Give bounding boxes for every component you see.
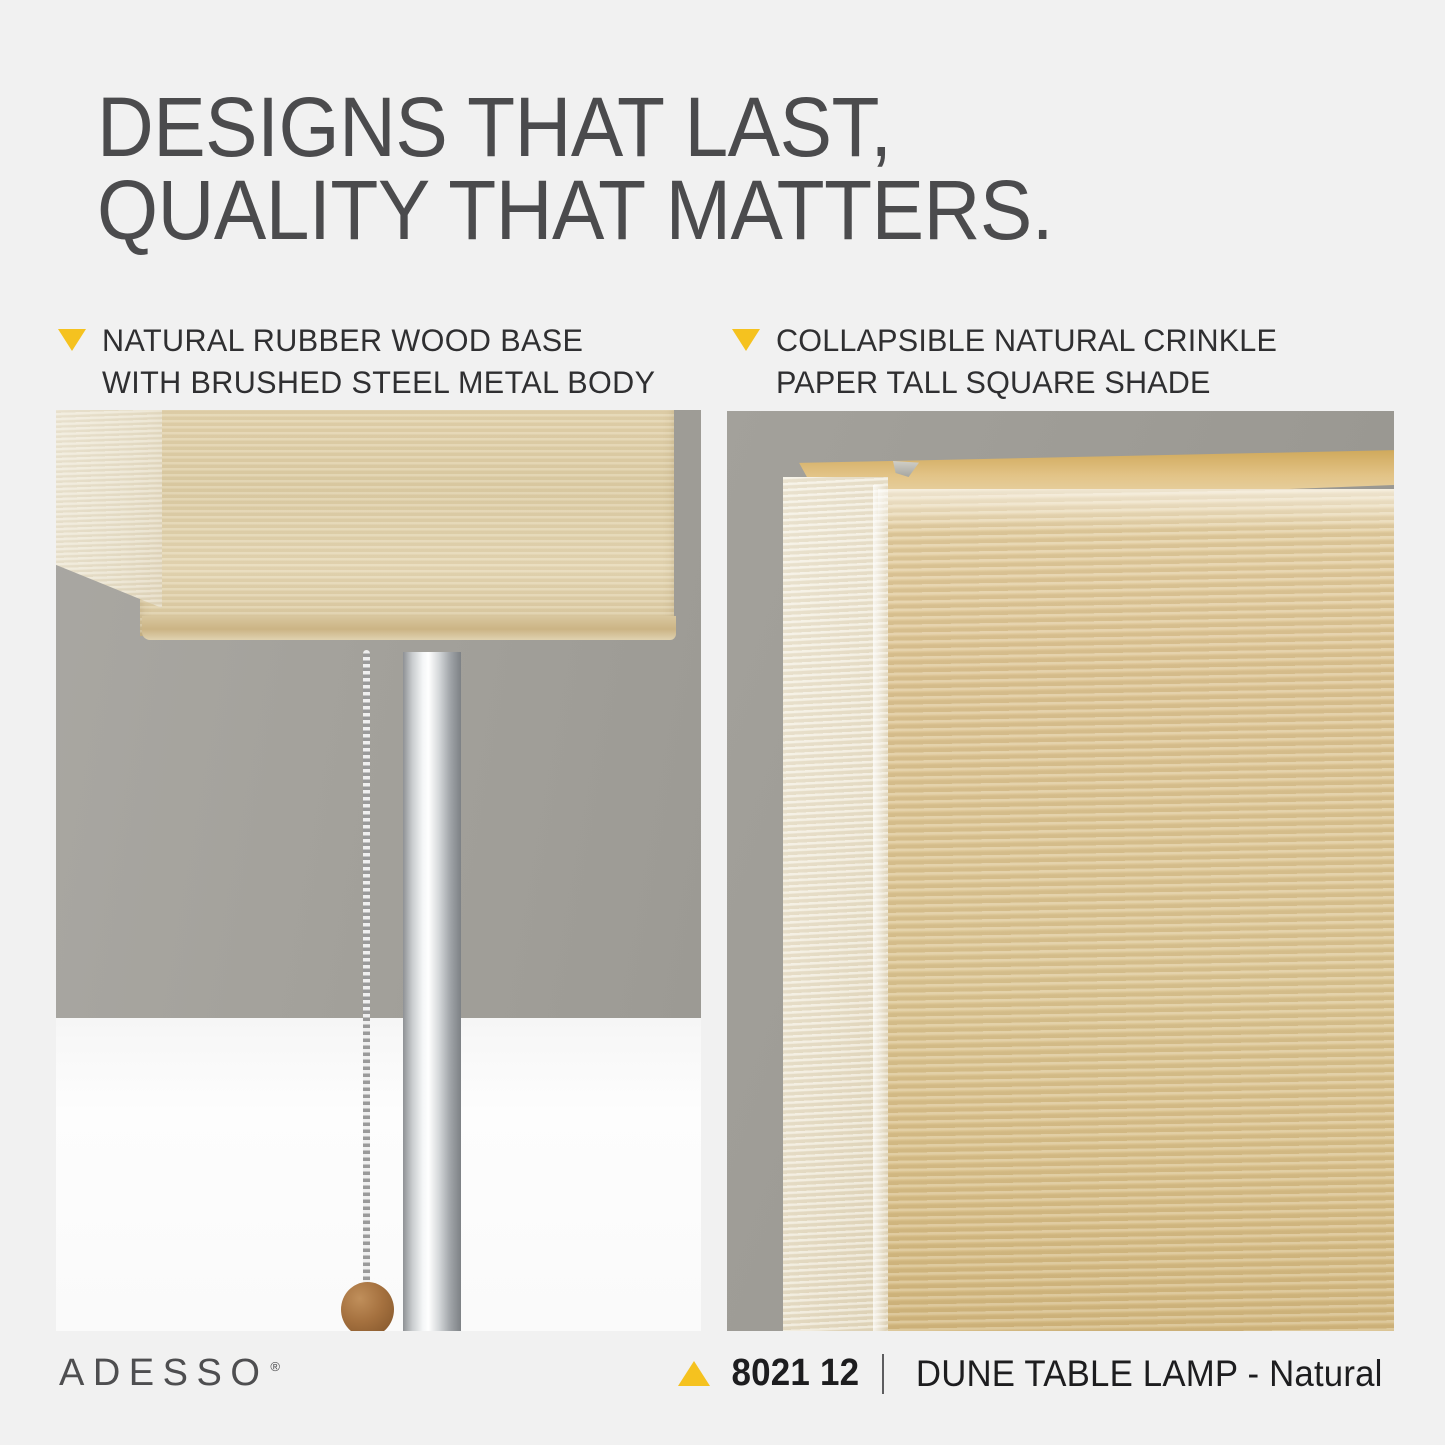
triangle-down-icon: [58, 329, 86, 351]
shade-texture-detail-photo: [727, 411, 1394, 1331]
shade-corner-edge: [873, 485, 887, 1331]
feature-caption-line-2: PAPER TALL SQUARE SHADE: [776, 362, 1277, 404]
shade-front-face: [878, 489, 1394, 1331]
divider: [882, 1354, 884, 1394]
headline-line-1: DESIGNS THAT LAST,: [97, 86, 1294, 169]
product-name: DUNE TABLE LAMP - Natural: [915, 1353, 1382, 1395]
feature-caption-paper-shade: COLLAPSIBLE NATURAL CRINKLE PAPER TALL S…: [732, 320, 1293, 404]
registered-trademark-icon: ®: [270, 1359, 280, 1374]
steel-tube-body: [403, 652, 461, 1331]
feature-caption-text: COLLAPSIBLE NATURAL CRINKLE PAPER TALL S…: [776, 320, 1277, 404]
brand-logo-text: ADESSO: [59, 1352, 268, 1394]
pull-chain: [363, 650, 370, 1290]
headline-line-2: QUALITY THAT MATTERS.: [97, 169, 1294, 252]
product-info: 8021 12 DUNE TABLE LAMP - Natural: [678, 1352, 1397, 1395]
feature-caption-wood-base: NATURAL RUBBER WOOD BASE WITH BRUSHED ST…: [58, 320, 673, 404]
lamp-base-detail-photo: [56, 410, 701, 1331]
feature-caption-text: NATURAL RUBBER WOOD BASE WITH BRUSHED ST…: [102, 320, 655, 404]
triangle-up-icon: [678, 1361, 710, 1386]
feature-caption-line-2: WITH BRUSHED STEEL METAL BODY: [102, 362, 655, 404]
feature-captions: NATURAL RUBBER WOOD BASE WITH BRUSHED ST…: [56, 320, 1396, 400]
shade-front-face: [140, 410, 674, 636]
brand-logo: ADESSO®: [59, 1352, 280, 1395]
product-sku: 8021 12: [731, 1352, 859, 1395]
shade-side-face: [56, 410, 162, 608]
paper-shade: [765, 449, 1394, 1331]
page-title: DESIGNS THAT LAST, QUALITY THAT MATTERS.: [97, 86, 1294, 252]
marketing-panel: DESIGNS THAT LAST, QUALITY THAT MATTERS.…: [0, 0, 1445, 1445]
pull-chain-knob-icon: [341, 1282, 394, 1331]
triangle-down-icon: [732, 329, 760, 351]
shade-bottom-lip: [142, 616, 676, 640]
feature-caption-line-1: COLLAPSIBLE NATURAL CRINKLE: [776, 320, 1277, 362]
feature-caption-line-1: NATURAL RUBBER WOOD BASE: [102, 320, 655, 362]
